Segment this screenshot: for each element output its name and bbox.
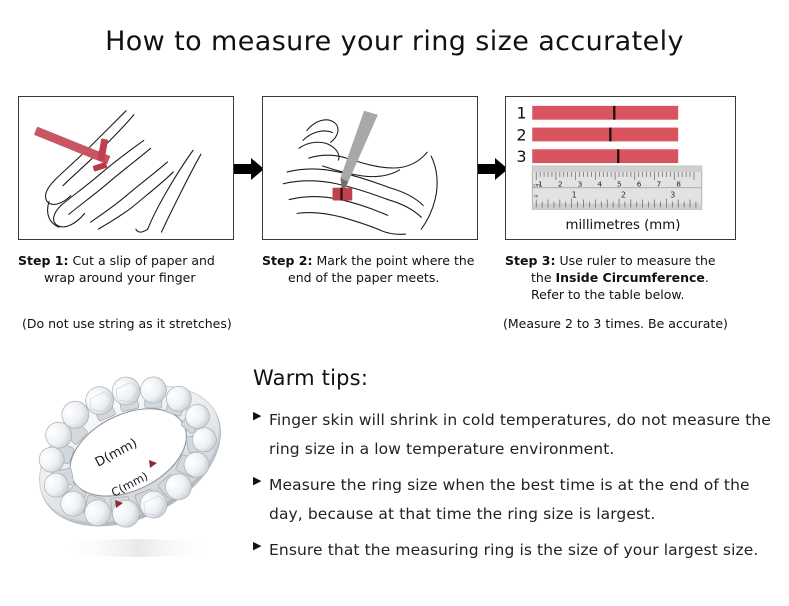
warm-tips-section: Warm tips: ▶ Finger skin will shrink in … — [253, 366, 773, 572]
svg-text:5: 5 — [617, 180, 622, 189]
step-1-line-2: wrap around your finger — [18, 269, 248, 286]
step-2-line-1: Mark the point where the — [316, 253, 474, 268]
strip-number-3: 3 — [516, 147, 526, 166]
step-2-line-2: end of the paper meets. — [262, 269, 492, 286]
warm-tip-item-2: ▶ Measure the ring size when the best ti… — [253, 471, 773, 529]
strip-row-2: 2 — [516, 125, 678, 144]
bullet-triangle-icon: ▶ — [253, 536, 269, 551]
step-1-line-1: Cut a slip of paper and — [72, 253, 214, 268]
step-2-illustration-panel — [262, 96, 478, 240]
step-3-line-2-prefix: the — [531, 270, 556, 285]
steps-row: 1 2 3 — [0, 96, 789, 246]
step-3-illustration-panel: 1 2 3 — [505, 96, 736, 240]
hand-marking-paper-with-pen-drawing — [263, 97, 477, 239]
step-3-note: (Measure 2 to 3 times. Be accurate) — [503, 316, 728, 331]
strip-number-1: 1 — [516, 104, 526, 123]
step-1-note: (Do not use string as it stretches) — [22, 316, 232, 331]
bullet-triangle-icon: ▶ — [253, 406, 269, 421]
svg-text:in: in — [534, 194, 538, 200]
warm-tip-text-3: Ensure that the measuring ring is the si… — [269, 536, 758, 565]
hand-with-paper-strip-drawing — [19, 97, 233, 239]
svg-text:1: 1 — [572, 191, 577, 200]
step-3-line-3: Refer to the table below. — [505, 286, 755, 303]
paper-strip-marked — [333, 188, 353, 201]
step-1-illustration-panel — [18, 96, 234, 240]
svg-text:3: 3 — [670, 191, 675, 200]
svg-text:2: 2 — [558, 180, 563, 189]
warm-tip-item-1: ▶ Finger skin will shrink in cold temper… — [253, 406, 773, 464]
step-2-caption: Step 2: Mark the point where the end of … — [262, 252, 492, 286]
step-3-line-1: Use ruler to measure the — [559, 253, 715, 268]
ring-diagram: D(mm) C(mm) — [18, 352, 248, 567]
paper-strips-over-ruler-drawing: 1 2 3 — [506, 97, 735, 239]
step-3-line-2-suffix: . — [705, 270, 709, 285]
warm-tip-text-1: Finger skin will shrink in cold temperat… — [269, 406, 773, 464]
page-title: How to measure your ring size accurately — [0, 26, 789, 57]
step-3-caption: Step 3: Use ruler to measure the the Ins… — [505, 252, 755, 303]
svg-text:4: 4 — [597, 180, 602, 189]
svg-text:6: 6 — [637, 180, 642, 189]
ruler-unit-label: millimetres (mm) — [566, 218, 681, 233]
step-2-label: Step 2: — [262, 253, 312, 268]
step-3-label: Step 3: — [505, 253, 555, 268]
svg-text:7: 7 — [656, 180, 661, 189]
warm-tips-heading: Warm tips: — [253, 366, 773, 390]
strip-row-1: 1 — [516, 104, 678, 123]
warm-tip-item-3: ▶ Ensure that the measuring ring is the … — [253, 536, 773, 565]
svg-text:8: 8 — [676, 180, 681, 189]
warm-tip-text-2: Measure the ring size when the best time… — [269, 471, 773, 529]
svg-text:2: 2 — [621, 191, 626, 200]
strip-row-3: 3 — [516, 147, 678, 166]
step-1-caption: Step 1: Cut a slip of paper and wrap aro… — [18, 252, 248, 286]
ruler-graphic: 123 456 78 cm 123 in — [532, 166, 702, 209]
inside-circumference-emphasis: Inside Circumference — [556, 270, 705, 285]
step-1-label: Step 1: — [18, 253, 68, 268]
arrow-step1-to-step2-icon — [234, 156, 264, 182]
arrow-step2-to-step3-icon — [478, 156, 508, 182]
strip-number-2: 2 — [516, 125, 526, 144]
svg-text:cm: cm — [533, 184, 540, 189]
ring-diagram-svg: D(mm) C(mm) — [18, 352, 248, 567]
svg-text:3: 3 — [578, 180, 583, 189]
bullet-triangle-icon: ▶ — [253, 471, 269, 486]
